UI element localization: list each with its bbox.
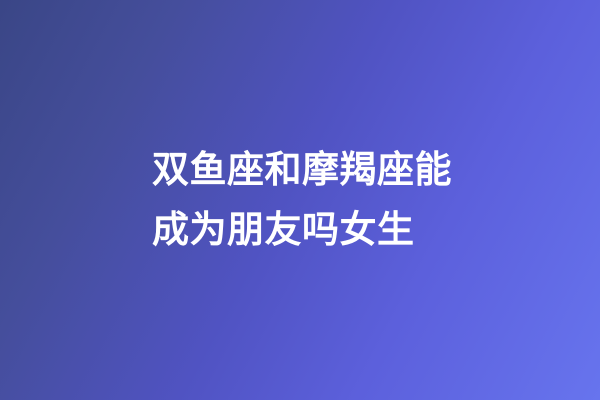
page-title-line-2: 成为朋友吗女生 [152, 200, 452, 260]
page-title: 双鱼座和摩羯座能 成为朋友吗女生 [0, 140, 452, 260]
title-card: 双鱼座和摩羯座能 成为朋友吗女生 [0, 0, 600, 400]
page-title-line-1: 双鱼座和摩羯座能 [152, 140, 452, 200]
